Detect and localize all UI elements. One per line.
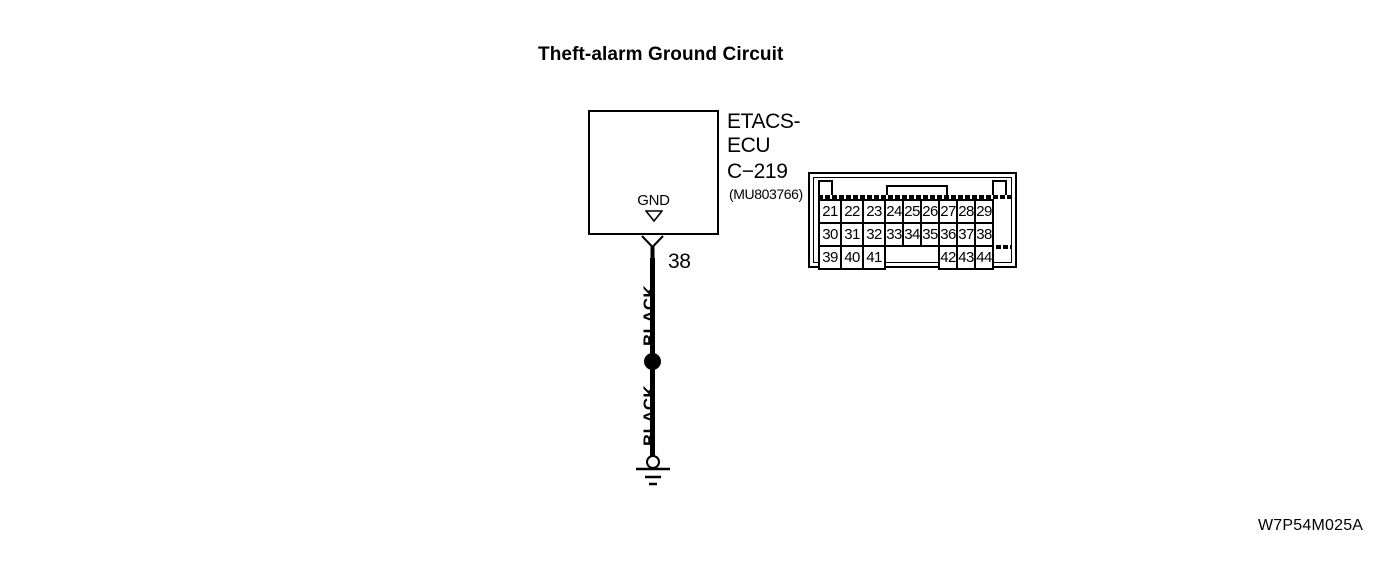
pin-cell-empty: [902, 245, 922, 270]
pin-cell[interactable]: 26: [920, 199, 940, 224]
pin-cell[interactable]: 21: [818, 199, 842, 224]
chassis-ground-icon: [626, 450, 680, 492]
ecu-name-line1: ETACS-: [727, 110, 800, 134]
wire-color-label-lower: BLACK: [640, 385, 660, 446]
pin-cell[interactable]: 44: [974, 245, 994, 270]
gnd-terminal-label: GND: [588, 192, 719, 209]
gnd-triangle-icon: [645, 210, 663, 222]
pin-cell[interactable]: 42: [938, 245, 958, 270]
pin-cell[interactable]: 27: [938, 199, 958, 224]
pin-cell[interactable]: 37: [956, 222, 976, 247]
pin-cell[interactable]: 23: [862, 199, 886, 224]
connector-pinmap-c219: 21 22 23 24 25 26 27 28 29 30 31 32 33 3…: [808, 172, 1017, 268]
pin-cell[interactable]: 38: [974, 222, 994, 247]
pin-cell[interactable]: 32: [862, 222, 886, 247]
pin-row-1: 21 22 23 24 25 26 27 28 29: [818, 199, 1011, 222]
pin-cell[interactable]: 34: [902, 222, 922, 247]
pin-row-3: 39 40 41 42 43 44: [818, 245, 1011, 268]
pin-cell-empty: [920, 245, 940, 270]
ecu-name-line2: ECU: [727, 134, 770, 158]
diagram-title: Theft-alarm Ground Circuit: [538, 44, 783, 66]
wire-pin-number: 38: [668, 250, 691, 274]
pin-cell[interactable]: 40: [840, 245, 864, 270]
connector-pin-rows: 21 22 23 24 25 26 27 28 29 30 31 32 33 3…: [818, 199, 1011, 268]
pin-cell[interactable]: 22: [840, 199, 864, 224]
ecu-connector-id: C−219: [727, 160, 787, 184]
document-code: W7P54M025A: [1258, 517, 1363, 535]
pin-cell[interactable]: 30: [818, 222, 842, 247]
ecu-part-number: (MU803766): [729, 186, 803, 202]
pin-cell[interactable]: 29: [974, 199, 994, 224]
wire-color-label-upper: BLACK: [640, 285, 660, 346]
pin-cell[interactable]: 33: [884, 222, 904, 247]
pin-cell[interactable]: 41: [862, 245, 886, 270]
wiring-diagram-canvas: Theft-alarm Ground Circuit GND ETACS- EC…: [0, 0, 1400, 564]
pin-cell[interactable]: 43: [956, 245, 976, 270]
pin-cell[interactable]: 28: [956, 199, 976, 224]
pin-cell[interactable]: 25: [902, 199, 922, 224]
pin-cell[interactable]: 35: [920, 222, 940, 247]
pin-cell[interactable]: 39: [818, 245, 842, 270]
pin-cell[interactable]: 24: [884, 199, 904, 224]
pin-row-2: 30 31 32 33 34 35 36 37 38: [818, 222, 1011, 245]
pin-cell-empty: [884, 245, 904, 270]
pin-cell[interactable]: 31: [840, 222, 864, 247]
pin-cell[interactable]: 36: [938, 222, 958, 247]
wire-junction-dot: [644, 353, 661, 370]
